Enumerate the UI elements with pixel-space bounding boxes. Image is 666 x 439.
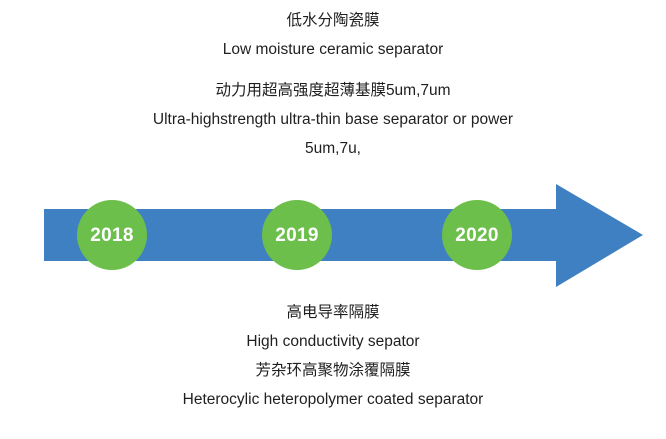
bottom-annotation-text-block: 高电导率隔膜 High conductivity sepator 芳杂环高聚物涂… xyxy=(0,298,666,414)
top-text-line-1: 低水分陶瓷膜 xyxy=(0,6,666,35)
bottom-text-line-4: Heterocylic heteropolymer coated separat… xyxy=(0,385,666,414)
top-text-line-4: Ultra-highstrength ultra-thin base separ… xyxy=(0,105,666,134)
top-annotation-text-block: 低水分陶瓷膜 Low moisture ceramic separator 动力… xyxy=(0,6,666,163)
top-text-spacer xyxy=(0,64,666,76)
milestone-label-2018: 2018 xyxy=(90,226,133,245)
milestone-label-2020: 2020 xyxy=(455,226,498,245)
timeline-diagram-canvas: 低水分陶瓷膜 Low moisture ceramic separator 动力… xyxy=(0,0,666,439)
top-text-line-2: Low moisture ceramic separator xyxy=(0,35,666,64)
top-text-line-3: 动力用超高强度超薄基膜5um,7um xyxy=(0,76,666,105)
milestone-circle-2019[interactable]: 2019 xyxy=(262,200,332,270)
milestone-circle-2020[interactable]: 2020 xyxy=(442,200,512,270)
bottom-text-line-3: 芳杂环高聚物涂覆隔膜 xyxy=(0,356,666,385)
milestone-circle-2018[interactable]: 2018 xyxy=(77,200,147,270)
bottom-text-line-1: 高电导率隔膜 xyxy=(0,298,666,327)
milestone-label-2019: 2019 xyxy=(275,226,318,245)
top-text-line-5: 5um,7u, xyxy=(0,134,666,163)
bottom-text-line-2: High conductivity sepator xyxy=(0,327,666,356)
